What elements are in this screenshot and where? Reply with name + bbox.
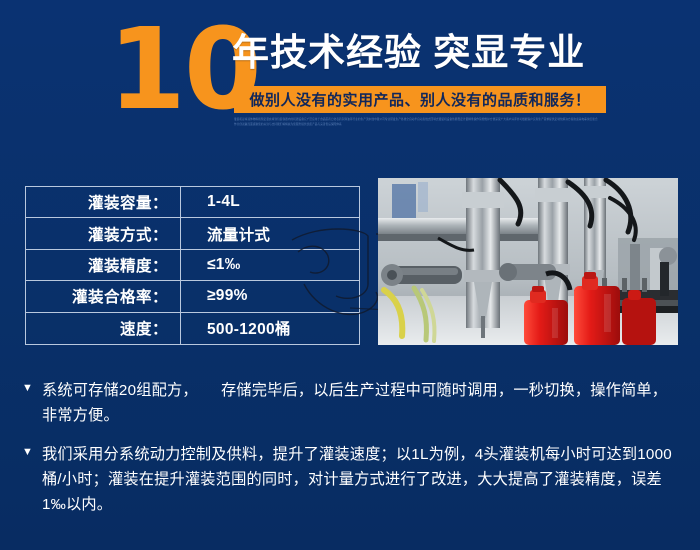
spec-value: 1-4L (181, 187, 359, 217)
feature-bullet-list: ▼ 系统可存储20组配方， 存储完毕后，以后生产过程中可随时调用，一秒切换，操作… (22, 378, 682, 531)
promo-banner-page: 10 年技术经验 突显专业 做别人没有的实用产品、别人没有的品质和服务！ 灌装机… (0, 0, 700, 550)
subbanner-text: 做别人没有的实用产品、别人没有的品质和服务！ (249, 89, 590, 110)
bullet-text: 我们采用分系统动力控制及供料，提升了灌装速度；以1L为例，4头灌装机每小时可达到… (42, 442, 682, 517)
spec-label: 灌装合格率： (26, 281, 181, 311)
bullet-text: 系统可存储20组配方， 存储完毕后，以后生产过程中可随时调用，一秒切换，操作简单… (42, 378, 682, 428)
header-section: 10 年技术经验 突显专业 做别人没有的实用产品、别人没有的品质和服务！ 灌装机… (0, 0, 700, 150)
list-item: ▼ 我们采用分系统动力控制及供料，提升了灌装速度；以1L为例，4头灌装机每小时可… (22, 442, 682, 517)
spec-value: ≤1‰ (181, 250, 359, 280)
product-photo (378, 178, 678, 345)
filling-machine-photo-illustration (378, 178, 678, 345)
spec-value: 500-1200桶 (181, 313, 359, 344)
subbanner-strip: 做别人没有的实用产品、别人没有的品质和服务！ (234, 86, 606, 113)
spec-label: 灌装方式： (26, 218, 181, 248)
table-row: 速度： 500-1200桶 (26, 313, 359, 344)
table-row: 灌装精度： ≤1‰ (26, 250, 359, 281)
specification-table: 灌装容量： 1-4L 灌装方式： 流量计式 灌装精度： ≤1‰ 灌装合格率： ≥… (25, 186, 360, 345)
spec-label: 灌装容量： (26, 187, 181, 217)
decorative-microtext: 灌装机是将液体物料按预定量充填到包装容器内的机器设备它广泛应用于食品医药日化农药… (234, 117, 600, 136)
headline-text: 年技术经验 突显专业 (232, 30, 585, 76)
spec-value: 流量计式 (181, 218, 359, 248)
list-item: ▼ 系统可存储20组配方， 存储完毕后，以后生产过程中可随时调用，一秒切换，操作… (22, 378, 682, 428)
spec-label: 速度： (26, 313, 181, 344)
table-row: 灌装合格率： ≥99% (26, 281, 359, 312)
triangle-bullet-icon: ▼ (22, 442, 42, 458)
table-row: 灌装容量： 1-4L (26, 187, 359, 218)
spec-value: ≥99% (181, 281, 359, 311)
spec-label: 灌装精度： (26, 250, 181, 280)
triangle-bullet-icon: ▼ (22, 378, 42, 394)
table-row: 灌装方式： 流量计式 (26, 218, 359, 249)
